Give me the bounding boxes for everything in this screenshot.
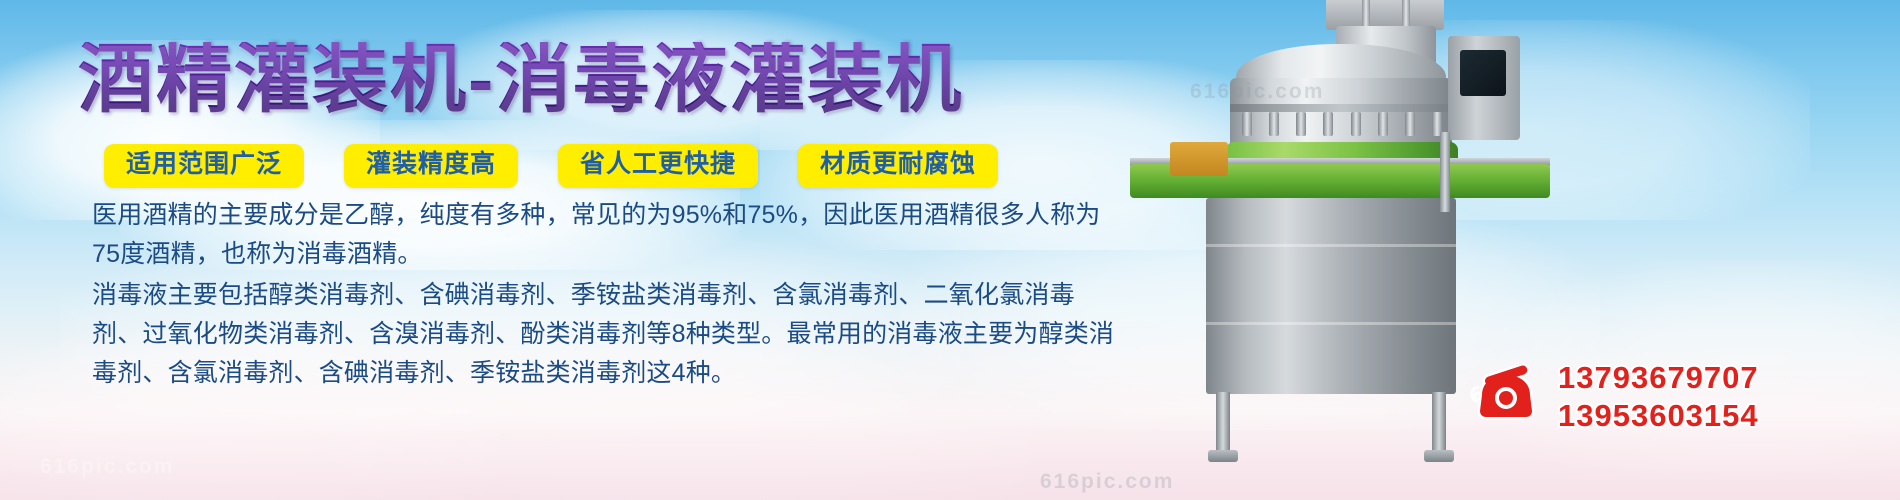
- description-paragraph-0: 医用酒精的主要成分是乙醇，纯度有多种，常见的为95%和75%，因此医用酒精很多人…: [92, 196, 1122, 274]
- feature-tag-0: 适用范围广泛: [104, 144, 304, 188]
- description-block: 医用酒精的主要成分是乙醇，纯度有多种，常见的为95%和75%，因此医用酒精很多人…: [92, 196, 1122, 395]
- promo-banner: 酒精灌装机-消毒液灌装机 酒精灌装机-消毒液灌装机 适用范围广泛 灌装精度高 省…: [0, 0, 1900, 500]
- machine-nozzle: [1242, 112, 1252, 136]
- feature-tag-list: 适用范围广泛 灌装精度高 省人工更快捷 材质更耐腐蚀: [104, 144, 998, 188]
- machine-cabinet: [1206, 198, 1456, 394]
- contact-block: 13793679707 13953603154: [1468, 360, 1759, 434]
- machine-side-box: [1170, 142, 1228, 176]
- feature-tag-3: 材质更耐腐蚀: [798, 144, 998, 188]
- banner-title: 酒精灌装机-消毒液灌装机: [78, 42, 963, 118]
- phone-number-list: 13793679707 13953603154: [1558, 360, 1759, 434]
- machine-panel-stem: [1440, 132, 1450, 212]
- description-paragraph-1: 消毒液主要包括醇类消毒剂、含碘消毒剂、季铵盐类消毒剂、含氯消毒剂、二氧化氯消毒剂…: [92, 276, 1122, 393]
- machine-nozzle: [1296, 112, 1306, 136]
- phone-number-primary[interactable]: 13793679707: [1558, 360, 1759, 396]
- machine-cabinet-seam: [1206, 244, 1456, 247]
- machine-foot: [1208, 450, 1238, 462]
- feature-tag-2: 省人工更快捷: [558, 144, 758, 188]
- machine-nozzle-row: [1242, 112, 1442, 138]
- phone-number-secondary[interactable]: 13953603154: [1558, 398, 1759, 434]
- feature-tag-1: 灌装精度高: [344, 144, 518, 188]
- machine-display-screen: [1460, 50, 1506, 96]
- telephone-icon: [1468, 365, 1544, 429]
- machine-leg-group: [1206, 392, 1456, 464]
- machine-nozzle: [1405, 112, 1415, 136]
- machine-leg: [1216, 392, 1230, 454]
- machine-foot: [1424, 450, 1454, 462]
- machine-nozzle: [1378, 112, 1388, 136]
- machine-nozzle: [1351, 112, 1361, 136]
- machine-nozzle: [1269, 112, 1279, 136]
- machine-nozzle: [1323, 112, 1333, 136]
- machine-leg: [1432, 392, 1446, 454]
- machine-cabinet-seam: [1206, 322, 1456, 325]
- machine-drum-band: [1230, 104, 1452, 112]
